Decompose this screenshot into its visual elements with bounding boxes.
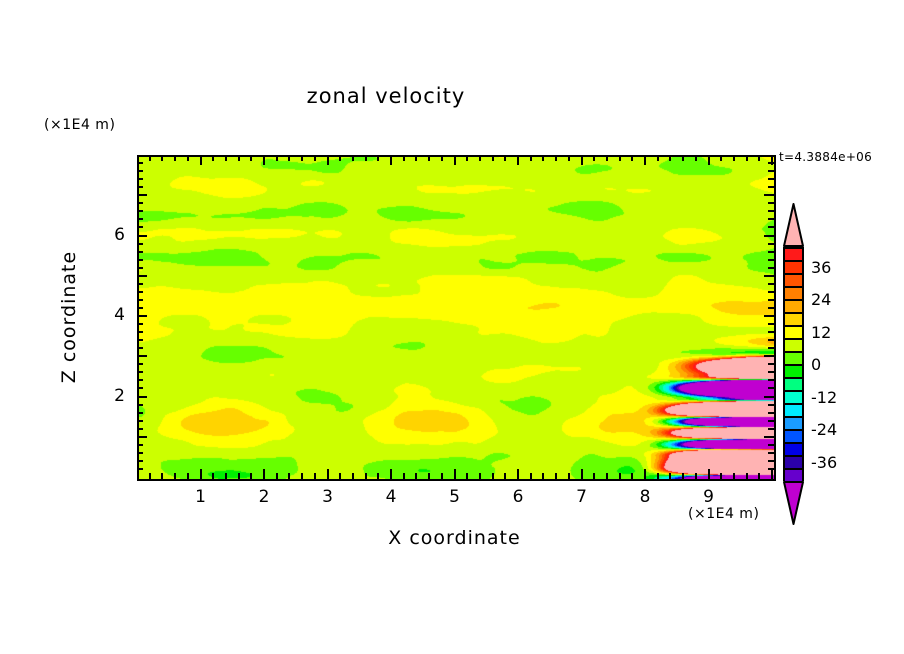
y-tick-right [768, 243, 774, 245]
x-tick-top [263, 155, 265, 165]
colorbar-under-arrow-icon [783, 481, 804, 525]
x-ticklabel: 8 [625, 487, 665, 507]
x-tick [619, 473, 621, 479]
y-tick [137, 170, 143, 172]
x-tick-top [568, 155, 570, 161]
y-tick-right [768, 412, 774, 414]
y-tick [137, 267, 143, 269]
x-tick [593, 473, 595, 479]
y-tick-right [768, 363, 774, 365]
x-tick-top [441, 155, 443, 161]
y-tick-right [764, 235, 774, 237]
y-tick-right [768, 452, 774, 454]
x-tick [314, 473, 316, 479]
x-tick-top [415, 155, 417, 161]
y-tick-right [764, 436, 774, 438]
x-tick [174, 473, 176, 479]
colorbar-ticklabel: 0 [811, 355, 821, 374]
x-tick [200, 469, 202, 479]
y-tick-right [768, 299, 774, 301]
y-tick [137, 355, 147, 357]
y-tick [137, 243, 143, 245]
colorbar-ticklabel: 24 [811, 290, 831, 309]
x-tick-top [504, 155, 506, 161]
x-ticklabel: 2 [244, 487, 284, 507]
x-tick-top [390, 155, 392, 165]
x-tick-top [733, 155, 735, 161]
y-tick-right [768, 259, 774, 261]
y-tick [137, 323, 143, 325]
x-tick [352, 473, 354, 479]
x-tick-top [530, 155, 532, 161]
y-tick-right [768, 428, 774, 430]
x-tick-top [149, 155, 151, 161]
colorbar-band [785, 366, 802, 379]
x-tick-top [200, 155, 202, 165]
colorbar-band [785, 249, 802, 262]
colorbar-band [785, 431, 802, 444]
y-tick-right [768, 339, 774, 341]
x-tick-top [555, 155, 557, 161]
x-tick [441, 473, 443, 479]
x-tick-top [454, 155, 456, 165]
x-tick [225, 473, 227, 479]
x-tick-top [466, 155, 468, 161]
x-tick [746, 473, 748, 479]
x-tick-top [187, 155, 189, 161]
x-tick [733, 473, 735, 479]
colorbar-band [785, 288, 802, 301]
y-tick-right [768, 186, 774, 188]
y-tick [137, 371, 143, 373]
x-tick-top [746, 155, 748, 161]
colorbar-ticklabel: -36 [811, 453, 837, 472]
y-tick [137, 299, 143, 301]
x-tick [339, 473, 341, 479]
x-tick [504, 473, 506, 479]
x-ticklabel: 1 [181, 487, 221, 507]
x-tick-top [301, 155, 303, 161]
x-tick-top [238, 155, 240, 161]
y-tick-right [768, 226, 774, 228]
x-tick-top [276, 155, 278, 161]
x-axis-title: X coordinate [137, 527, 772, 549]
y-tick [137, 307, 143, 309]
x-tick [390, 469, 392, 479]
colorbar-over-arrow-icon [783, 203, 804, 247]
x-tick [365, 473, 367, 479]
x-tick-top [479, 155, 481, 161]
y-tick [137, 379, 143, 381]
y-ticklabel: 6 [85, 225, 125, 245]
y-tick [137, 251, 143, 253]
y-axis-unit-label: (×1E4 m) [44, 117, 115, 133]
x-tick [212, 473, 214, 479]
x-tick-top [250, 155, 252, 161]
x-ticklabel: 6 [498, 487, 538, 507]
y-tick [137, 162, 143, 164]
y-tick [137, 363, 143, 365]
x-tick-top [352, 155, 354, 161]
x-ticklabel: 4 [371, 487, 411, 507]
x-tick [758, 473, 760, 479]
x-ticklabel: 5 [435, 487, 475, 507]
y-tick [137, 436, 147, 438]
x-tick [517, 469, 519, 479]
y-tick [137, 339, 143, 341]
y-tick [137, 452, 143, 454]
x-ticklabel: 9 [689, 487, 729, 507]
y-tick-right [768, 468, 774, 470]
x-axis-unit-label: (×1E4 m) [688, 506, 759, 522]
y-tick [137, 387, 143, 389]
x-tick-top [657, 155, 659, 161]
colorbar-band [785, 379, 802, 392]
x-ticklabel: 3 [308, 487, 348, 507]
colorbar-ticklabel: -12 [811, 388, 837, 407]
y-tick-right [764, 355, 774, 357]
colorbar-band [785, 327, 802, 340]
x-tick-top [695, 155, 697, 161]
y-tick-right [764, 194, 774, 196]
colorbar-band [785, 405, 802, 418]
y-tick [137, 460, 143, 462]
y-tick-right [768, 291, 774, 293]
colorbar-band [785, 301, 802, 314]
y-tick [137, 178, 143, 180]
x-tick [187, 473, 189, 479]
y-tick [137, 315, 147, 317]
y-tick-right [764, 315, 774, 317]
y-tick-right [768, 162, 774, 164]
y-tick-right [768, 460, 774, 462]
x-tick-top [581, 155, 583, 165]
x-tick [581, 469, 583, 479]
colorbar-ticklabel: 12 [811, 323, 831, 342]
x-tick [288, 473, 290, 479]
contour-field [139, 157, 774, 479]
colorbar-band [785, 353, 802, 366]
y-tick [137, 283, 143, 285]
y-ticklabel: 2 [85, 386, 125, 406]
y-tick-right [764, 275, 774, 277]
y-tick-right [768, 283, 774, 285]
x-tick [403, 473, 405, 479]
x-tick-top [619, 155, 621, 161]
y-tick [137, 235, 147, 237]
y-tick [137, 444, 143, 446]
x-tick-top [517, 155, 519, 165]
x-tick-top [225, 155, 227, 161]
x-tick-top [542, 155, 544, 161]
y-tick [137, 218, 143, 220]
x-tick-top [365, 155, 367, 161]
y-tick [137, 194, 147, 196]
x-tick-top [314, 155, 316, 161]
x-tick [149, 473, 151, 479]
contour-plot-area [137, 155, 776, 481]
x-tick-top [327, 155, 329, 165]
x-tick [568, 473, 570, 479]
x-tick [631, 473, 633, 479]
y-tick [137, 275, 147, 277]
y-tick [137, 412, 143, 414]
x-tick-top [174, 155, 176, 161]
y-tick-right [768, 404, 774, 406]
y-tick [137, 291, 143, 293]
x-tick-top [720, 155, 722, 161]
y-tick-right [768, 323, 774, 325]
x-tick [606, 473, 608, 479]
colorbar-band [785, 340, 802, 353]
colorbar-ticklabel: -24 [811, 420, 837, 439]
y-tick [137, 468, 143, 470]
x-tick-top [758, 155, 760, 161]
x-tick [682, 473, 684, 479]
y-tick-right [768, 307, 774, 309]
y-tick-right [768, 379, 774, 381]
x-tick-top [492, 155, 494, 161]
x-tick [644, 469, 646, 479]
y-tick-right [768, 444, 774, 446]
x-tick-top [669, 155, 671, 161]
x-tick [771, 469, 773, 479]
colorbar-band [785, 262, 802, 275]
y-tick-right [768, 202, 774, 204]
x-tick [238, 473, 240, 479]
colorbar-band [785, 392, 802, 405]
x-tick [454, 469, 456, 479]
y-tick [137, 428, 143, 430]
x-tick-top [212, 155, 214, 161]
x-tick-top [288, 155, 290, 161]
y-tick-right [768, 178, 774, 180]
x-tick [695, 473, 697, 479]
y-tick [137, 347, 143, 349]
x-tick-top [682, 155, 684, 161]
x-tick [250, 473, 252, 479]
y-tick [137, 186, 143, 188]
x-tick [657, 473, 659, 479]
x-tick [530, 473, 532, 479]
y-ticklabel: 4 [85, 305, 125, 325]
x-tick-top [377, 155, 379, 161]
colorbar-ticklabel: 36 [811, 258, 831, 277]
x-ticklabel: 7 [562, 487, 602, 507]
x-tick [428, 473, 430, 479]
y-tick-right [768, 347, 774, 349]
colorbar-band [785, 444, 802, 457]
x-tick-top [606, 155, 608, 161]
y-axis-title: Z coordinate [58, 227, 80, 407]
y-tick-right [768, 267, 774, 269]
x-tick-top [339, 155, 341, 161]
x-tick [479, 473, 481, 479]
colorbar-bands [783, 247, 804, 481]
x-tick [720, 473, 722, 479]
colorbar-band [785, 275, 802, 288]
y-tick-right [768, 387, 774, 389]
x-tick [492, 473, 494, 479]
y-tick-right [768, 331, 774, 333]
y-tick [137, 210, 143, 212]
colorbar-band [785, 418, 802, 431]
y-tick [137, 404, 143, 406]
y-tick [137, 396, 147, 398]
x-tick-top [644, 155, 646, 165]
y-tick-right [768, 371, 774, 373]
x-tick [708, 469, 710, 479]
colorbar-band [785, 457, 802, 470]
y-tick [137, 420, 143, 422]
y-tick [137, 226, 143, 228]
x-tick-top [428, 155, 430, 161]
x-tick [377, 473, 379, 479]
y-tick-right [768, 420, 774, 422]
y-tick [137, 331, 143, 333]
x-tick [301, 473, 303, 479]
time-stamp-label: t=4.3884e+06 [779, 150, 872, 164]
y-tick [137, 202, 143, 204]
x-tick-top [161, 155, 163, 161]
x-tick [555, 473, 557, 479]
colorbar-band [785, 314, 802, 327]
x-tick [276, 473, 278, 479]
x-tick [542, 473, 544, 479]
x-tick [466, 473, 468, 479]
y-tick [137, 259, 143, 261]
y-tick-right [768, 251, 774, 253]
x-tick [161, 473, 163, 479]
y-tick-right [764, 396, 774, 398]
x-tick [327, 469, 329, 479]
x-tick [263, 469, 265, 479]
y-tick-right [768, 210, 774, 212]
y-tick-right [768, 218, 774, 220]
y-tick-right [768, 170, 774, 172]
x-tick-top [631, 155, 633, 161]
x-tick-top [403, 155, 405, 161]
page-title: zonal velocity [0, 84, 772, 108]
x-tick-top [593, 155, 595, 161]
x-tick [415, 473, 417, 479]
x-tick-top [708, 155, 710, 165]
x-tick [669, 473, 671, 479]
